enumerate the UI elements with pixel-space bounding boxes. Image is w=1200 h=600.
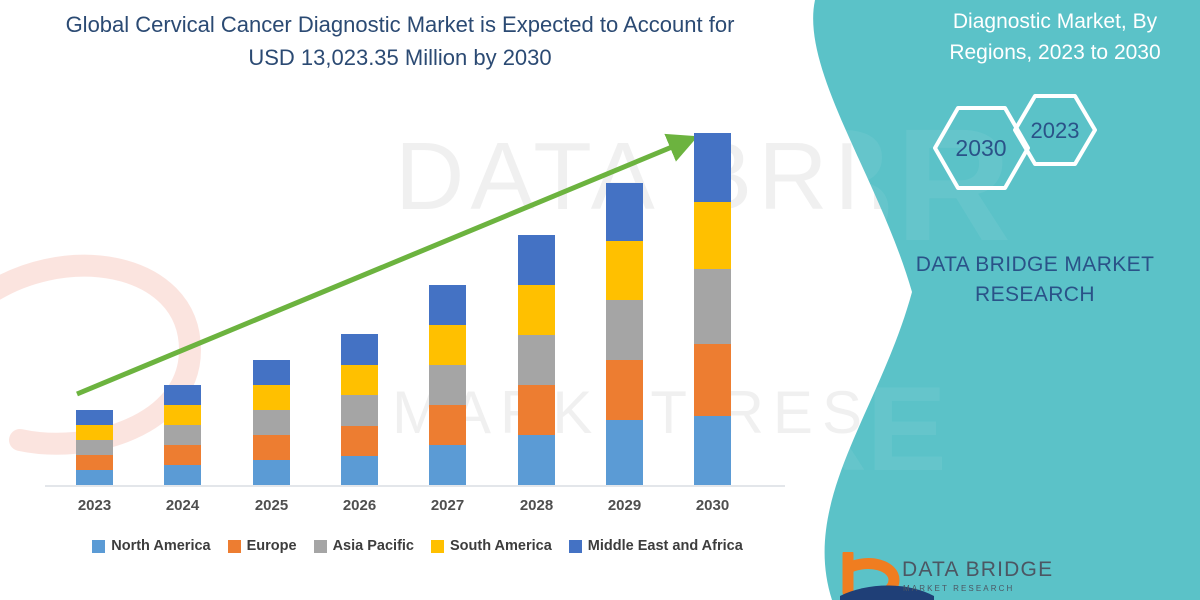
infographic-canvas: DATA BRIDGE MARKET RESEARCH BR RE Diagno… — [0, 0, 1200, 600]
x-axis-label-2025: 2025 — [232, 497, 312, 514]
panel-brand-text: DATA BRIDGE MARKET RESEARCH — [890, 250, 1180, 310]
stacked-bar-2024[interactable] — [164, 385, 201, 485]
legend-label: North America — [111, 538, 210, 554]
bar-segment-europe[interactable] — [694, 344, 731, 416]
stacked-bar-2026[interactable] — [341, 334, 378, 485]
bar-segment-middle-east-and-africa[interactable] — [164, 385, 201, 405]
legend-item-asia-pacific[interactable]: Asia Pacific — [314, 538, 414, 554]
hexagon-label-2030: 2030 — [955, 135, 1006, 161]
bar-segment-asia-pacific[interactable] — [694, 269, 731, 344]
x-axis-label-2028: 2028 — [497, 497, 577, 514]
bar-segment-north-america[interactable] — [429, 445, 466, 485]
legend-swatch-icon — [431, 540, 444, 553]
logo-wordmark: DATA BRIDGE — [902, 558, 1053, 582]
bar-segment-europe[interactable] — [518, 385, 555, 435]
x-axis-label-2026: 2026 — [320, 497, 400, 514]
bar-segment-asia-pacific[interactable] — [253, 410, 290, 435]
stacked-bar-2027[interactable] — [429, 285, 466, 485]
bar-segment-europe[interactable] — [253, 435, 290, 460]
bar-segment-south-america[interactable] — [518, 285, 555, 335]
stacked-bar-2029[interactable] — [606, 183, 643, 485]
chart-plot-area: 20232024202520262027202820292030 — [0, 0, 800, 600]
stacked-bar-2025[interactable] — [253, 360, 290, 485]
bar-segment-middle-east-and-africa[interactable] — [76, 410, 113, 425]
bar-segment-north-america[interactable] — [341, 456, 378, 485]
bar-segment-south-america[interactable] — [694, 202, 731, 269]
bar-segment-europe[interactable] — [606, 360, 643, 420]
bar-segment-south-america[interactable] — [76, 425, 113, 440]
bar-segment-europe[interactable] — [341, 426, 378, 456]
bar-segment-north-america[interactable] — [518, 435, 555, 485]
legend-swatch-icon — [569, 540, 582, 553]
x-axis-label-2024: 2024 — [143, 497, 223, 514]
bar-segment-south-america[interactable] — [429, 325, 466, 365]
legend-item-north-america[interactable]: North America — [92, 538, 210, 554]
stacked-bar-2023[interactable] — [76, 410, 113, 485]
hexagon-label-2023: 2023 — [1031, 118, 1080, 143]
bar-segment-middle-east-and-africa[interactable] — [341, 334, 378, 365]
bar-segment-middle-east-and-africa[interactable] — [694, 133, 731, 202]
bar-segment-asia-pacific[interactable] — [341, 395, 378, 426]
stacked-bar-2028[interactable] — [518, 235, 555, 485]
legend-swatch-icon — [92, 540, 105, 553]
legend-label: Europe — [247, 538, 297, 554]
legend-item-europe[interactable]: Europe — [228, 538, 297, 554]
hexagon-badges: 2030 2023 — [915, 88, 1115, 223]
bar-segment-south-america[interactable] — [606, 241, 643, 300]
bar-segment-middle-east-and-africa[interactable] — [518, 235, 555, 285]
bar-segment-north-america[interactable] — [694, 416, 731, 485]
x-axis-label-2027: 2027 — [408, 497, 488, 514]
legend-swatch-icon — [314, 540, 327, 553]
bar-segment-north-america[interactable] — [76, 470, 113, 485]
x-axis-label-2029: 2029 — [585, 497, 665, 514]
bar-segment-asia-pacific[interactable] — [76, 440, 113, 455]
legend-label: South America — [450, 538, 552, 554]
bar-segment-europe[interactable] — [429, 405, 466, 445]
stacked-bar-2030[interactable] — [694, 133, 731, 485]
legend-item-south-america[interactable]: South America — [431, 538, 552, 554]
bar-segment-asia-pacific[interactable] — [518, 335, 555, 385]
bar-segment-south-america[interactable] — [253, 385, 290, 410]
bar-segment-asia-pacific[interactable] — [606, 300, 643, 360]
bar-segment-middle-east-and-africa[interactable] — [253, 360, 290, 385]
bar-segment-south-america[interactable] — [341, 365, 378, 395]
chart-legend: North AmericaEuropeAsia PacificSouth Ame… — [45, 538, 790, 554]
legend-label: Asia Pacific — [333, 538, 414, 554]
bar-segment-middle-east-and-africa[interactable] — [606, 183, 643, 241]
x-axis-label-2023: 2023 — [55, 497, 135, 514]
x-axis-label-2030: 2030 — [673, 497, 753, 514]
logo-tagline: MARKET RESEARCH — [903, 584, 1014, 593]
svg-text:RE: RE — [780, 362, 947, 496]
legend-item-middle-east-and-africa[interactable]: Middle East and Africa — [569, 538, 743, 554]
bar-segment-north-america[interactable] — [164, 465, 201, 485]
bar-segment-europe[interactable] — [76, 455, 113, 470]
bar-segment-asia-pacific[interactable] — [164, 425, 201, 445]
bar-segment-north-america[interactable] — [606, 420, 643, 485]
bar-segment-asia-pacific[interactable] — [429, 365, 466, 405]
legend-label: Middle East and Africa — [588, 538, 743, 554]
panel-heading: Diagnostic Market, By Regions, 2023 to 2… — [930, 6, 1180, 68]
x-axis-line — [45, 485, 785, 487]
bar-segment-north-america[interactable] — [253, 460, 290, 485]
legend-swatch-icon — [228, 540, 241, 553]
bar-segment-south-america[interactable] — [164, 405, 201, 425]
bar-segment-europe[interactable] — [164, 445, 201, 465]
bar-segment-middle-east-and-africa[interactable] — [429, 285, 466, 325]
